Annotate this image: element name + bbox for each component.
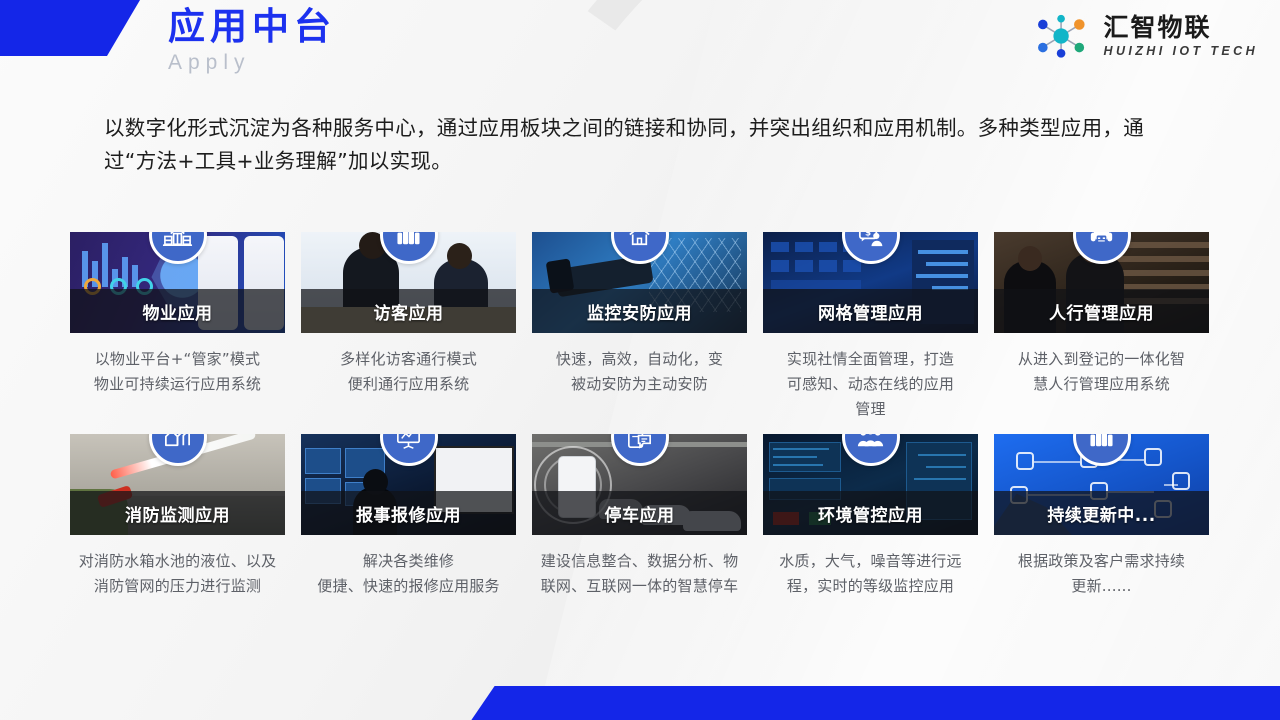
card-thumbnail: 环境管控应用 (763, 434, 978, 535)
svg-text:$: $ (865, 232, 871, 238)
building-house-icon (162, 232, 193, 251)
card-description: 以物业平台+“管家”模式 物业可持续运行应用系统 (70, 347, 285, 397)
card-description: 解决各类维修 便捷、快速的报修应用服务 (301, 549, 516, 599)
app-card-security[interactable]: 监控安防应用 快速，高效，自动化，变 被动安防为主动安防 (532, 232, 747, 422)
card-thumbnail: 持续更新中... (994, 434, 1209, 535)
page-title-cn: 应用中台 (168, 4, 336, 50)
home-shield-icon (624, 232, 655, 251)
card-thumbnail: 人行管理应用 (994, 232, 1209, 333)
card-title: 访客应用 (374, 299, 444, 324)
card-description: 建设信息整合、数据分析、物 联网、互联网一体的智慧停车 (532, 549, 747, 599)
card-thumbnail: 网格管理应用 $ (763, 232, 978, 333)
app-card-repair-report[interactable]: 报事报修应用 解决各类维修 便捷、快速的报修应用服务 (301, 434, 516, 599)
app-card-parking[interactable]: 停车应用 建设信息整合、数据分析、物 联网、互联网一体的智慧停车 (532, 434, 747, 599)
app-card-environment[interactable]: 环境管控应用 水质，大气，噪音等进行远 程，实时的等级监控应用 (763, 434, 978, 599)
card-description: 实现社情全面管理，打造 可感知、动态在线的应用 管理 (763, 347, 978, 422)
face-recognition-icon (1086, 232, 1117, 251)
card-title-bar: 监控安防应用 (532, 289, 747, 333)
intro-paragraph: 以数字化形式沉淀为各种服务中心，通过应用板块之间的链接和协同，并突出组织和应用机… (104, 112, 1174, 178)
card-thumbnail: 报事报修应用 (301, 434, 516, 535)
card-title: 报事报修应用 (356, 501, 461, 526)
card-description: 对消防水箱水池的液位、以及 消防管网的压力进行监测 (70, 549, 285, 599)
card-title: 网格管理应用 (818, 299, 923, 324)
brand-logo-text: 汇智物联 HUIZHI IOT TECH (1104, 14, 1258, 58)
card-description: 水质，大气，噪音等进行远 程，实时的等级监控应用 (763, 549, 978, 599)
page-header: 应用中台 Apply 汇智物联 HUIZHI IOT TECH (0, 0, 1280, 92)
card-title: 物业应用 (143, 299, 213, 324)
card-title-bar: 报事报修应用 (301, 491, 516, 535)
card-title: 环境管控应用 (818, 501, 923, 526)
card-thumbnail: 停车应用 (532, 434, 747, 535)
app-card-fire-monitoring[interactable]: 消防监测应用 对消防水箱水池的液位、以及 消防管网的压力进行监测 (70, 434, 285, 599)
card-title-bar: 持续更新中... (994, 491, 1209, 535)
app-card-property[interactable]: 物业应用 以物业平台+“管家”模式 物业可持续运行应用系统 (70, 232, 285, 422)
header-accent-shape (0, 0, 140, 56)
card-title: 消防监测应用 (125, 501, 230, 526)
card-thumbnail: 访客应用 (301, 232, 516, 333)
page-title: 应用中台 Apply (168, 4, 336, 75)
app-card-grid-management[interactable]: 网格管理应用 $ 实现社情全面管理，打造 可感知、动态在线的应用 管理 (763, 232, 978, 422)
card-title: 停车应用 (605, 501, 675, 526)
footer-accent-shape (470, 686, 1280, 720)
card-description: 根据政策及客户需求持续 更新...... (994, 549, 1209, 599)
brand-name-en: HUIZHI IOT TECH (1104, 44, 1258, 58)
brand-logo: 汇智物联 HUIZHI IOT TECH (1032, 12, 1258, 60)
card-title-bar: 环境管控应用 (763, 491, 978, 535)
card-description: 快速，高效，自动化，变 被动安防为主动安防 (532, 347, 747, 397)
card-person-icon: $ (855, 232, 886, 251)
page-title-en: Apply (168, 51, 336, 75)
card-description: 从进入到登记的一体化智 慧人行管理应用系统 (994, 347, 1209, 397)
people-group-icon (393, 232, 424, 251)
card-thumbnail: 物业应用 (70, 232, 285, 333)
people-group-icon (1086, 434, 1117, 453)
chart-board-icon (393, 434, 424, 453)
card-title-bar: 人行管理应用 (994, 289, 1209, 333)
phone-chat-icon (624, 434, 655, 453)
card-title-bar: 消防监测应用 (70, 491, 285, 535)
app-card-pedestrian[interactable]: 人行管理应用 从进入到登记的一体化智 慧人行管理应用系统 (994, 232, 1209, 422)
card-title-bar: 物业应用 (70, 289, 285, 333)
card-thumbnail: 消防监测应用 (70, 434, 285, 535)
card-description: 多样化访客通行模式 便利通行应用系统 (301, 347, 516, 397)
brand-name-cn: 汇智物联 (1104, 14, 1258, 41)
card-title: 持续更新中... (1047, 501, 1155, 526)
card-title: 人行管理应用 (1049, 299, 1154, 324)
card-title-bar: 网格管理应用 (763, 289, 978, 333)
people-trio-icon (855, 434, 886, 453)
card-title-bar: 停车应用 (532, 491, 747, 535)
card-title: 监控安防应用 (587, 299, 692, 324)
molecule-logo-icon (1032, 12, 1094, 60)
application-card-grid: 物业应用 以物业平台+“管家”模式 物业可持续运行应用系统 访客应用 (70, 232, 1212, 599)
houses-roof-icon (162, 434, 193, 453)
card-title-bar: 访客应用 (301, 289, 516, 333)
app-card-coming-soon[interactable]: 持续更新中... 根据政策及客户需求持续 更新...... (994, 434, 1209, 599)
app-card-visitor[interactable]: 访客应用 多样化访客通行模式 便利通行应用系统 (301, 232, 516, 422)
card-thumbnail: 监控安防应用 (532, 232, 747, 333)
